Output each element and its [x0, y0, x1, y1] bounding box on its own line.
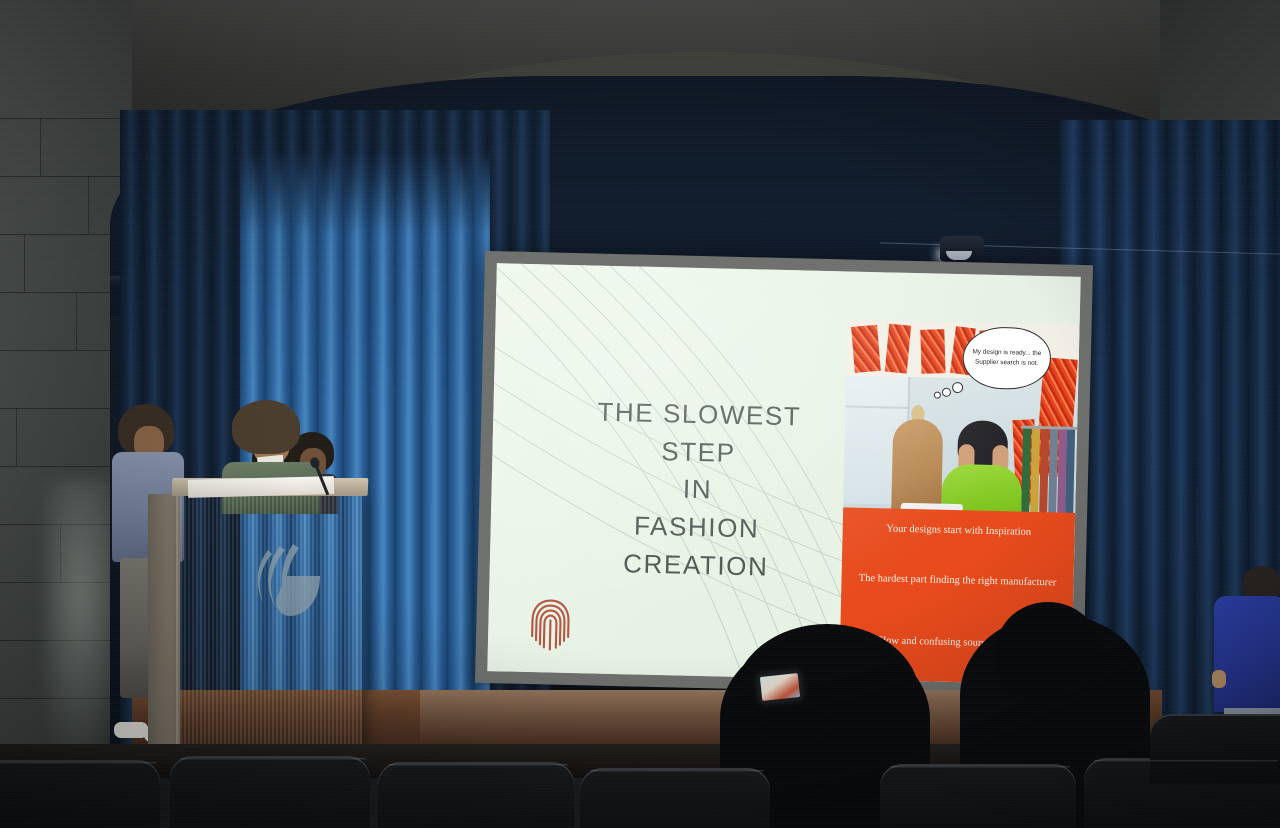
theater-seat [1150, 714, 1280, 784]
theater-seat [0, 760, 160, 828]
theater-seat [170, 756, 370, 828]
slide-title: THE SLOWEST STEP IN FASHION CREATION [545, 392, 849, 587]
auditorium-scene: THE SLOWEST STEP IN FASHION CREATION [0, 0, 1280, 828]
panel-line-1: Your designs start with Inspiration [851, 522, 1067, 542]
stage-light-fixture [940, 236, 984, 262]
title-line-5: CREATION [545, 543, 846, 588]
phone-screen [760, 673, 800, 701]
thought-bubble: My design is ready... the Supplier searc… [962, 326, 1051, 390]
presenter-notes [188, 476, 334, 498]
georgia-state-flame-icon [238, 542, 326, 628]
phone-recording [757, 670, 804, 704]
theater-seat [880, 764, 1076, 828]
projection-screen: THE SLOWEST STEP IN FASHION CREATION [487, 263, 1080, 685]
panel-line-2: The hardest part finding the right manuf… [849, 572, 1065, 592]
theater-seat [378, 762, 574, 828]
thought-bubble-text: My design is ready... the Supplier searc… [968, 332, 1045, 384]
theater-seat [580, 768, 770, 828]
fingerprint-icon [528, 596, 573, 655]
presentation-slide: THE SLOWEST STEP IN FASHION CREATION [487, 263, 1080, 685]
